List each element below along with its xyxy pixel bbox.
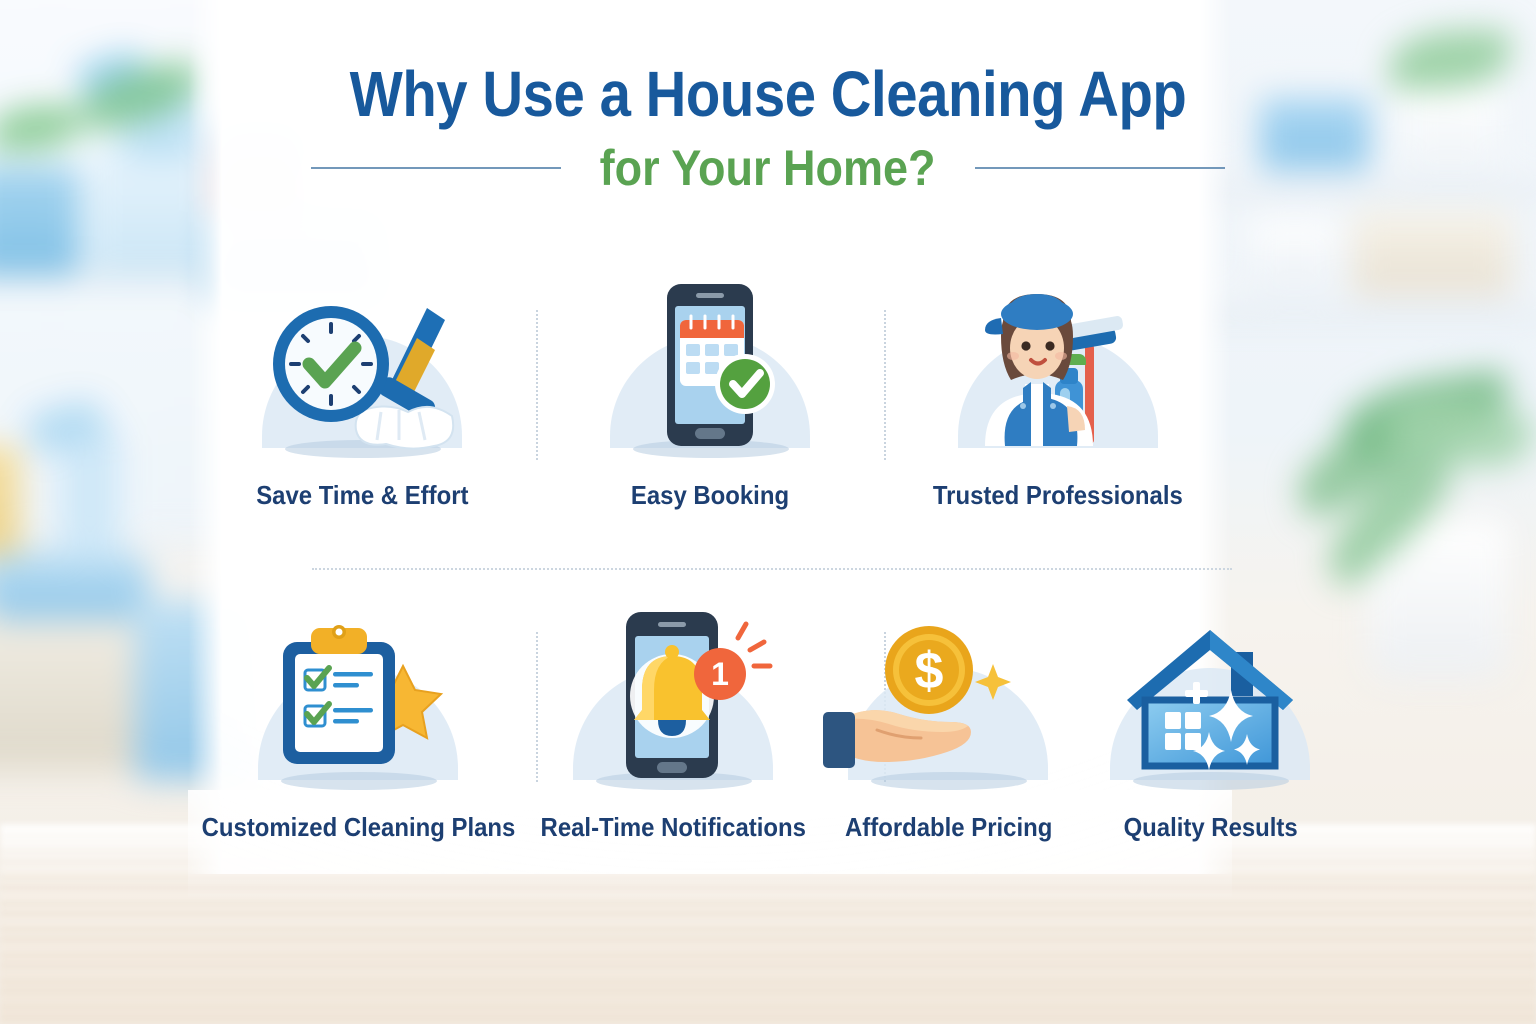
rule-left [311, 167, 561, 169]
coin: $ [885, 626, 973, 714]
hand [823, 710, 971, 768]
page-subtitle: for Your Home? [600, 139, 936, 197]
clipboard-star-art [227, 608, 489, 798]
feature-affordable-pricing[interactable]: $ Affordable Pricing [817, 608, 1079, 908]
feature-label: Customized Cleaning Plans [202, 812, 516, 843]
feature-grid: Save Time & Effort [188, 276, 1232, 908]
subtitle-row: for Your Home? [0, 139, 1536, 197]
feature-label: Easy Booking [631, 480, 789, 511]
sparkling-house-icon [1079, 608, 1341, 798]
hand-coin-icon: $ [817, 608, 1079, 798]
notification-badge: 1 [694, 648, 746, 700]
clock-mop-icon [231, 276, 493, 466]
feature-label: Save Time & Effort [256, 480, 468, 511]
feature-trusted-professionals[interactable]: Trusted Professionals [884, 276, 1232, 568]
badge-count: 1 [711, 656, 729, 692]
sparkle-icon [975, 664, 1011, 700]
badge-rays [738, 624, 770, 666]
cleaner-person-art [927, 276, 1189, 466]
cleaner-person-icon [927, 276, 1189, 466]
feature-label: Affordable Pricing [845, 812, 1052, 843]
header: Why Use a House Cleaning App for Your Ho… [0, 62, 1536, 197]
phone-calendar-check-icon [579, 276, 841, 466]
spray-bottle-lower [60, 430, 120, 560]
clock-mop-art [231, 276, 493, 466]
phone-bell-art: 1 [542, 608, 804, 798]
phone-bell-badge-icon: 1 [542, 608, 804, 798]
clock [273, 306, 389, 422]
rule-right [975, 167, 1225, 169]
feature-label: Quality Results [1123, 812, 1297, 843]
storage-box-beige [1352, 210, 1512, 296]
feature-customized-plans[interactable]: Customized Cleaning Plans [188, 608, 529, 908]
feature-quality-results[interactable]: Quality Results [1079, 608, 1341, 908]
infographic-canvas: Why Use a House Cleaning App for Your Ho… [0, 0, 1536, 1024]
coin-symbol: $ [915, 642, 944, 700]
page-title: Why Use a House Cleaning App [92, 62, 1444, 127]
feature-label: Trusted Professionals [933, 480, 1183, 511]
feature-label: Real-Time Notifications [540, 812, 805, 843]
clipboard [283, 625, 395, 764]
phone-calendar-art [579, 276, 841, 466]
feature-save-time[interactable]: Save Time & Effort [188, 276, 536, 568]
hand-coin-art: $ [817, 608, 1079, 798]
clipboard-star-icon [227, 608, 489, 798]
box-white-shelf [1250, 218, 1340, 294]
feature-realtime-notifications[interactable]: 1 Real-Time Notifications [529, 608, 817, 908]
feature-row-bottom: Customized Cleaning Plans [188, 570, 1232, 908]
folded-towels [0, 550, 150, 620]
sparkling-house-art [1079, 608, 1341, 798]
feature-easy-booking[interactable]: Easy Booking [536, 276, 884, 568]
feature-row-top: Save Time & Effort [188, 276, 1232, 568]
yellow-container [0, 445, 20, 555]
check-badge [715, 354, 775, 414]
